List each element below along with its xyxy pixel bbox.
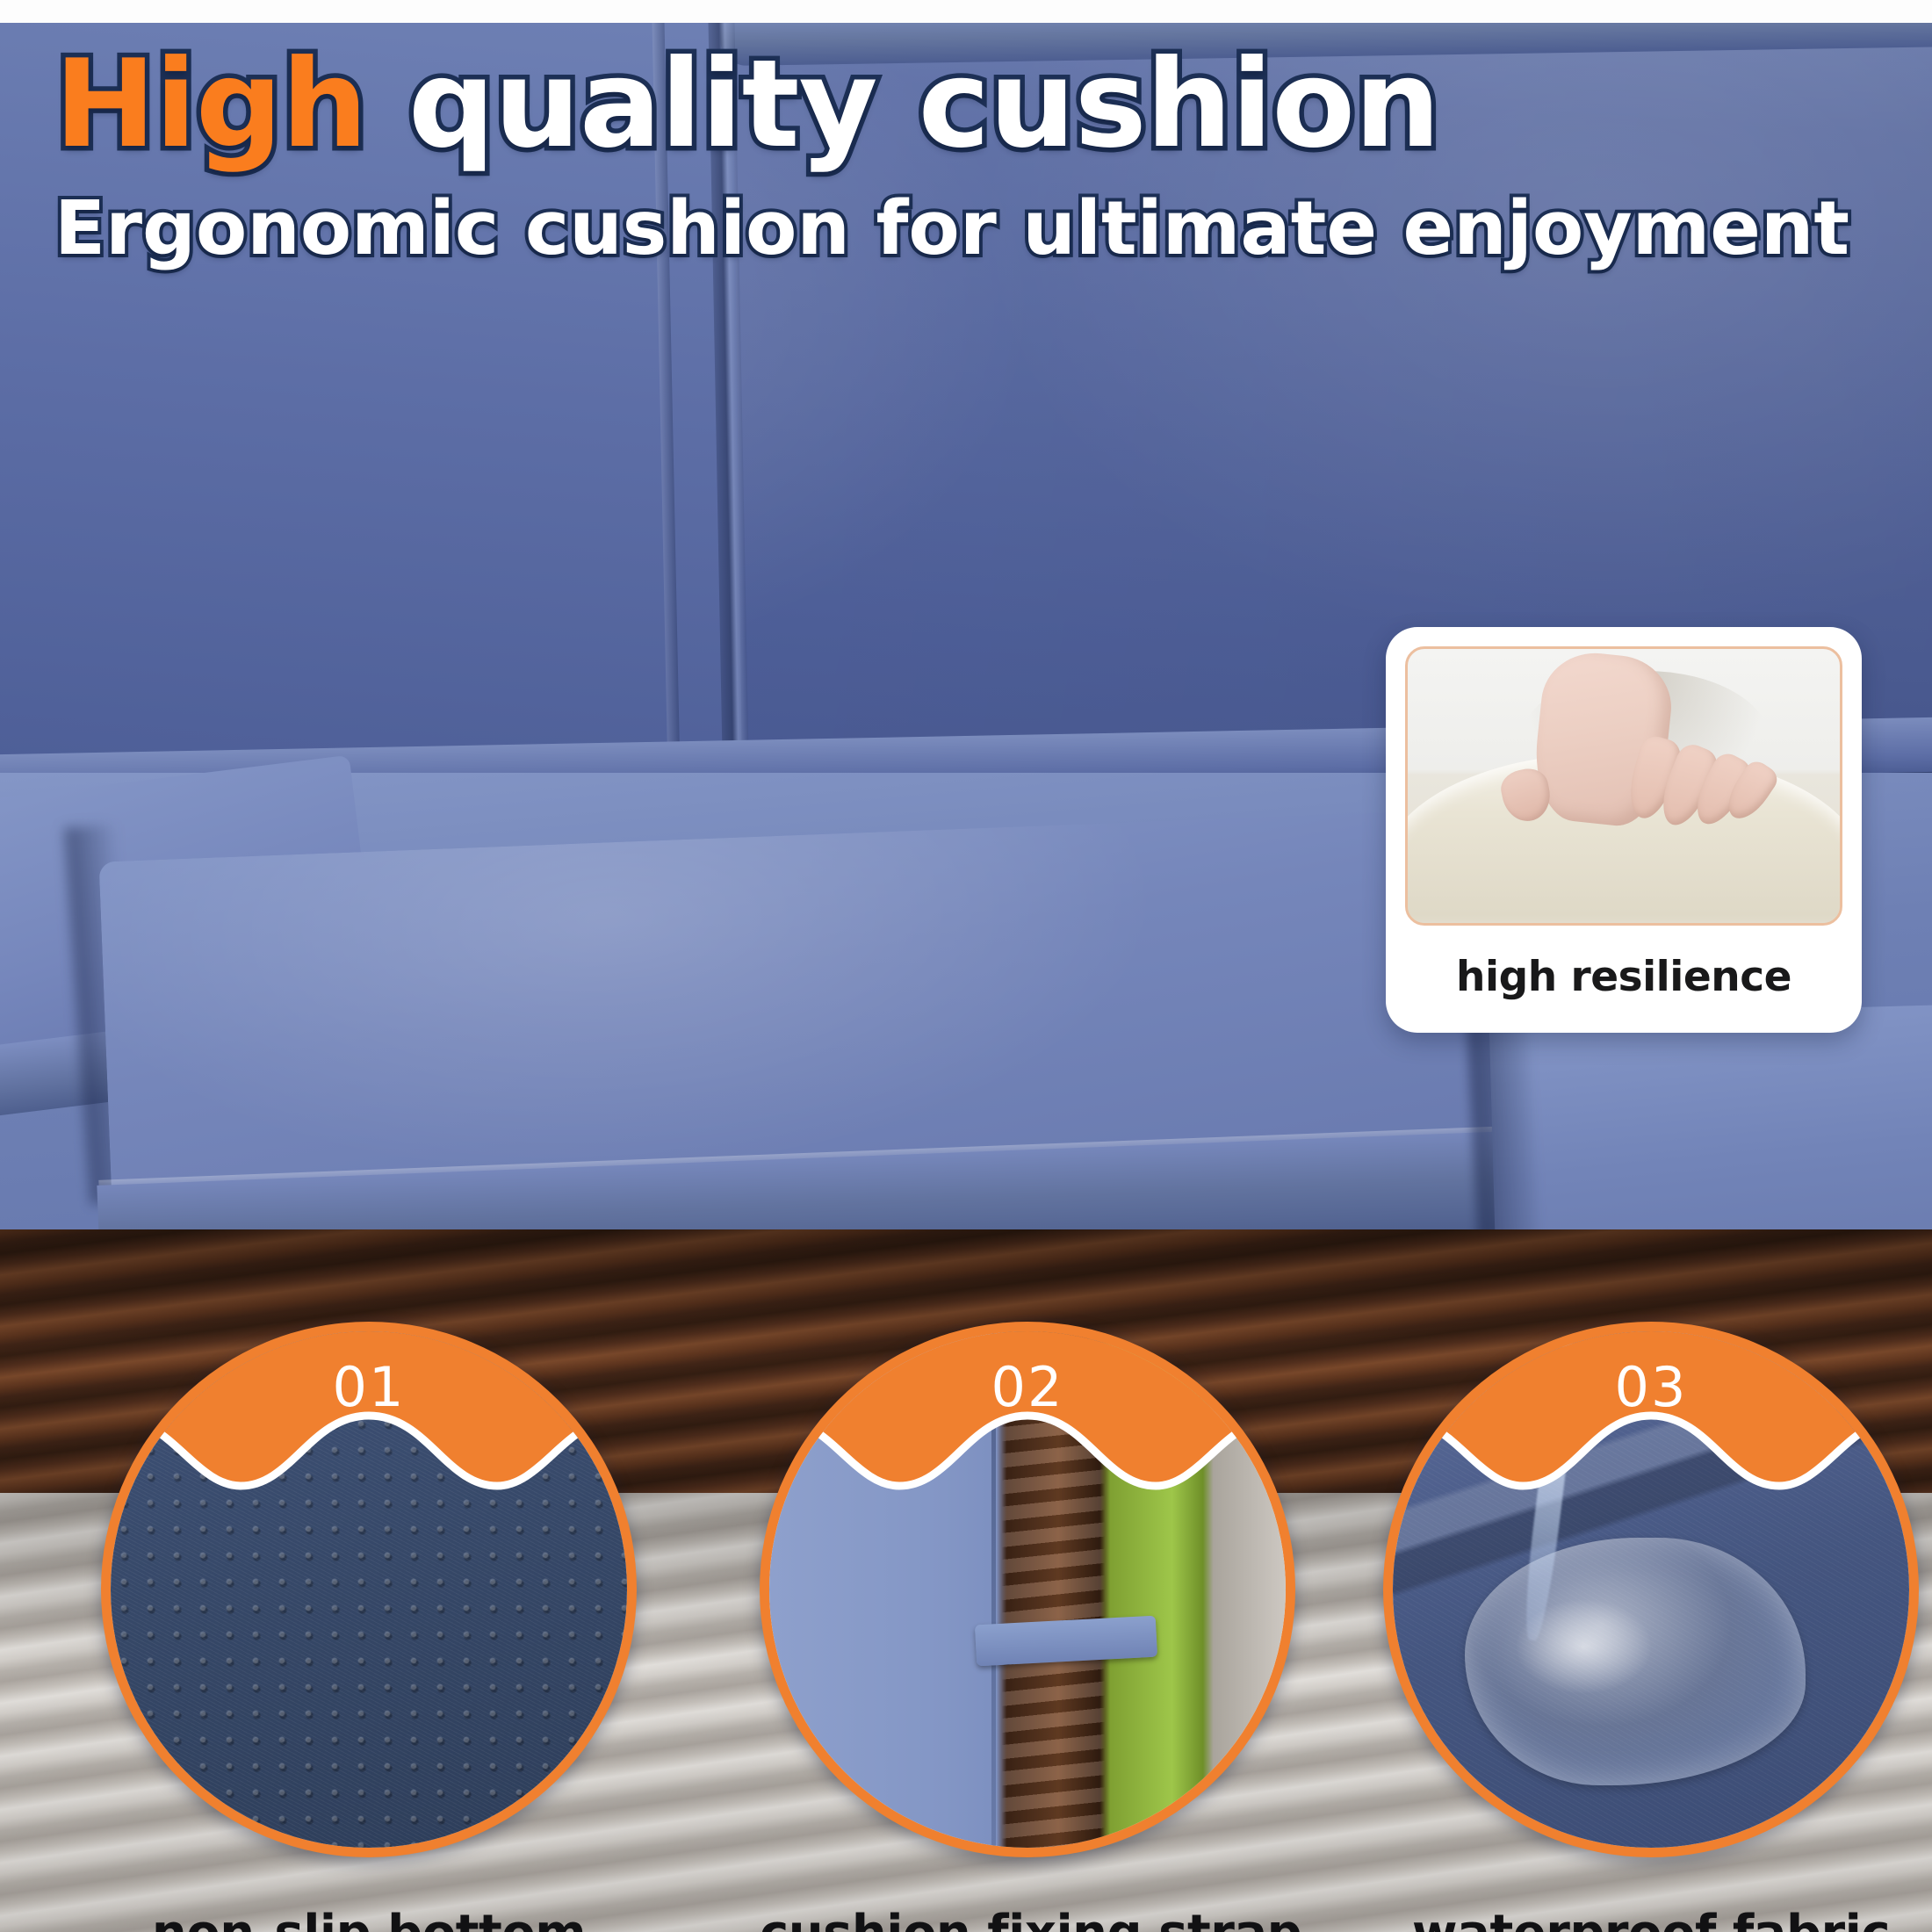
feature-number-01: 01 (101, 1355, 637, 1419)
water-splash (1517, 1600, 1651, 1693)
headline-rest: quality cushion (367, 33, 1440, 175)
feature-03: 03 waterproof fabric (1383, 1322, 1919, 1932)
feature-circle-03: 03 (1383, 1322, 1919, 1857)
feature-01: 01 non-slip bottom (101, 1322, 637, 1932)
feature-caption-01: non-slip bottom (101, 1905, 637, 1932)
title-block: High quality cushion Ergonomic cushion f… (54, 40, 1723, 270)
product-feature-banner: High quality cushion Ergonomic cushion f… (0, 0, 1932, 1932)
feature-circle-02: 02 (760, 1322, 1295, 1857)
feature-caption-03: waterproof fabric (1383, 1905, 1919, 1932)
photo-top-edge (0, 0, 1932, 23)
feature-number-02: 02 (760, 1355, 1295, 1419)
feature-02: 02 cushion fixing strap (760, 1322, 1295, 1932)
high-resilience-card: high resilience (1386, 627, 1862, 1033)
page-title: High quality cushion (54, 40, 1723, 169)
feature-number-03: 03 (1383, 1355, 1919, 1419)
feature-circle-01: 01 (101, 1322, 637, 1857)
page-subtitle: Ergonomic cushion for ultimate enjoyment (54, 188, 1723, 270)
feature-caption-02: cushion fixing strap (760, 1905, 1295, 1932)
high-resilience-label: high resilience (1405, 926, 1842, 1029)
high-resilience-photo (1405, 646, 1842, 926)
headline-accent-word: High (54, 33, 367, 175)
